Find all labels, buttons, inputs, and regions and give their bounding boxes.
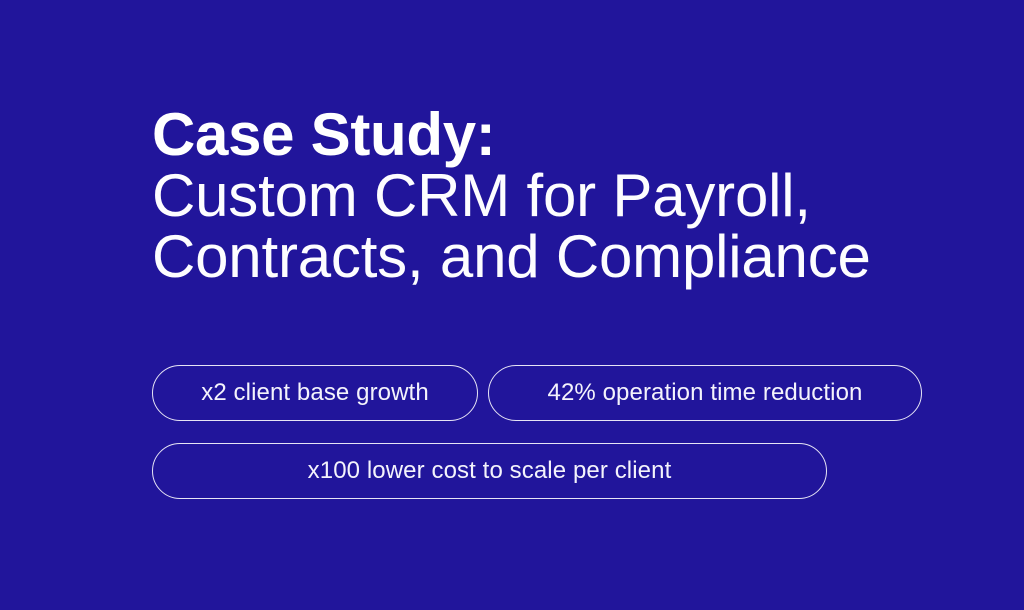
page-title: Case Study: [152, 104, 952, 165]
stats-area: x2 client base growth 42% operation time… [152, 365, 942, 499]
stat-badge-operation-time-reduction: 42% operation time reduction [488, 365, 922, 421]
subtitle-line-2: Contracts, and Compliance [152, 226, 952, 287]
case-study-slide: Case Study: Custom CRM for Payroll, Cont… [0, 0, 1024, 610]
stat-badge-lower-cost-to-scale: x100 lower cost to scale per client [152, 443, 827, 499]
stats-row-secondary: x100 lower cost to scale per client [152, 443, 942, 499]
headline-block: Case Study: Custom CRM for Payroll, Cont… [152, 104, 952, 287]
stat-badge-label: 42% operation time reduction [548, 381, 863, 405]
subtitle-line-1: Custom CRM for Payroll, [152, 165, 952, 226]
stat-badge-label: x100 lower cost to scale per client [308, 459, 672, 483]
stats-row-primary: x2 client base growth 42% operation time… [152, 365, 942, 421]
stat-badge-client-base-growth: x2 client base growth [152, 365, 478, 421]
stat-badge-label: x2 client base growth [201, 381, 429, 405]
